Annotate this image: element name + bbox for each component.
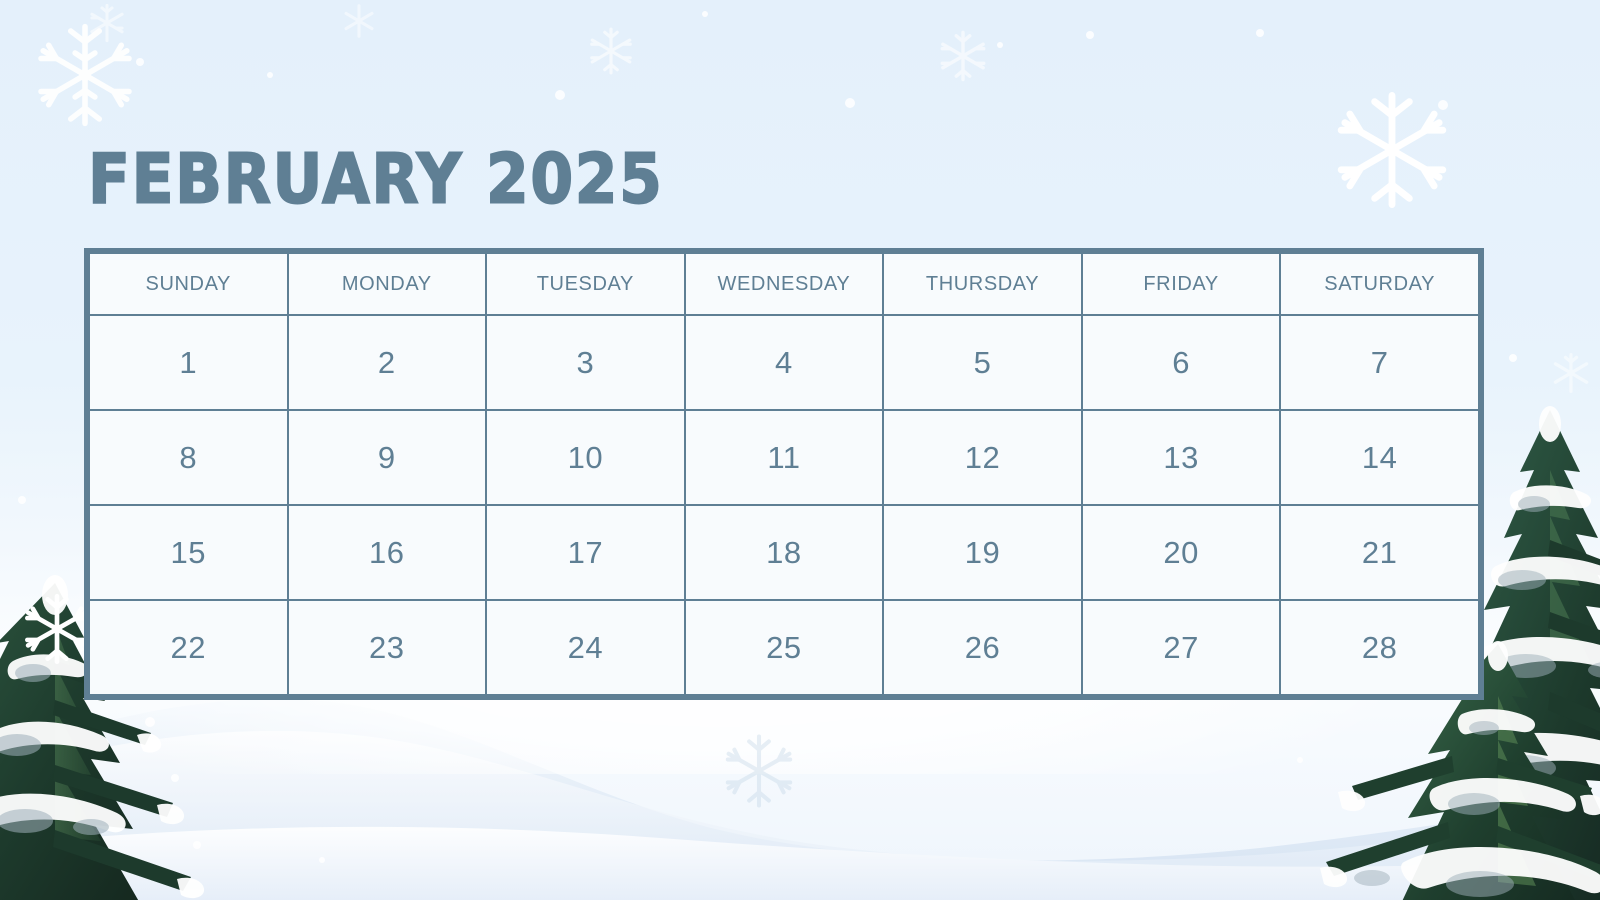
weekday-header-saturday: SATURDAY [1280, 253, 1479, 315]
calendar-week-row: 15 16 17 18 19 20 21 [89, 505, 1479, 600]
calendar-table: SUNDAY MONDAY TUESDAY WEDNESDAY THURSDAY… [88, 252, 1480, 696]
day-cell[interactable]: 1 [89, 315, 288, 410]
day-cell[interactable]: 25 [685, 600, 884, 695]
day-cell[interactable]: 27 [1082, 600, 1280, 695]
day-cell[interactable]: 19 [883, 505, 1082, 600]
snow-dot [319, 857, 325, 863]
weekday-header-thursday: THURSDAY [883, 253, 1082, 315]
page-title: FEBRUARY 2025 [88, 145, 1564, 213]
day-cell[interactable]: 17 [486, 505, 685, 600]
day-cell[interactable]: 12 [883, 410, 1082, 505]
snow-dot [267, 72, 273, 78]
weekday-header-sunday: SUNDAY [89, 253, 288, 315]
snow-dot [1297, 757, 1303, 763]
snowflake-top-mid-small [340, 2, 378, 40]
snow-dot [1438, 100, 1448, 110]
day-cell[interactable]: 20 [1082, 505, 1280, 600]
day-cell[interactable]: 16 [288, 505, 487, 600]
day-cell[interactable]: 11 [685, 410, 884, 505]
day-cell[interactable]: 15 [89, 505, 288, 600]
day-cell[interactable]: 6 [1082, 315, 1280, 410]
calendar-week-row: 22 23 24 25 26 27 28 [89, 600, 1479, 695]
snow-dot [1256, 29, 1264, 37]
weekday-header-wednesday: WEDNESDAY [685, 253, 884, 315]
day-cell[interactable]: 23 [288, 600, 487, 695]
day-cell[interactable]: 13 [1082, 410, 1280, 505]
calendar-week-row: 1 2 3 4 5 6 7 [89, 315, 1479, 410]
snow-dot [555, 90, 565, 100]
day-cell[interactable]: 4 [685, 315, 884, 410]
day-cell[interactable]: 5 [883, 315, 1082, 410]
snow-dot [702, 11, 708, 17]
snow-dot [1509, 354, 1517, 362]
snow-dot [845, 98, 855, 108]
day-cell[interactable]: 18 [685, 505, 884, 600]
weekday-header-monday: MONDAY [288, 253, 487, 315]
weekday-header-friday: FRIDAY [1082, 253, 1280, 315]
day-cell[interactable]: 26 [883, 600, 1082, 695]
day-cell[interactable]: 9 [288, 410, 487, 505]
snow-dot [1086, 31, 1094, 39]
calendar-body: 1 2 3 4 5 6 7 8 9 10 11 12 13 14 15 16 1… [89, 315, 1479, 695]
day-cell[interactable]: 28 [1280, 600, 1479, 695]
snowflake-on-left-tree [18, 590, 96, 668]
day-cell[interactable]: 24 [486, 600, 685, 695]
calendar-week-row: 8 9 10 11 12 13 14 [89, 410, 1479, 505]
day-cell[interactable]: 2 [288, 315, 487, 410]
day-cell[interactable]: 8 [89, 410, 288, 505]
snowflake-top-center [585, 25, 637, 77]
day-cell[interactable]: 22 [89, 600, 288, 695]
day-cell[interactable]: 14 [1280, 410, 1479, 505]
snow-dot [18, 496, 26, 504]
weekday-header-tuesday: TUESDAY [486, 253, 685, 315]
day-cell[interactable]: 7 [1280, 315, 1479, 410]
day-cell[interactable]: 3 [486, 315, 685, 410]
snow-dot [997, 42, 1003, 48]
snowflake-top-center-right [935, 28, 991, 84]
day-cell[interactable]: 10 [486, 410, 685, 505]
calendar-container: FEBRUARY 2025 SUNDAY MONDAY TUESDAY WEDN… [88, 150, 1480, 696]
snowflake-bottom-center [718, 730, 800, 812]
day-cell[interactable]: 21 [1280, 505, 1479, 600]
calendar-header-row: SUNDAY MONDAY TUESDAY WEDNESDAY THURSDAY… [89, 253, 1479, 315]
snowflake-right-edge [1548, 350, 1594, 396]
snowflake-top-left-small [86, 2, 128, 44]
snow-dot [136, 58, 144, 66]
